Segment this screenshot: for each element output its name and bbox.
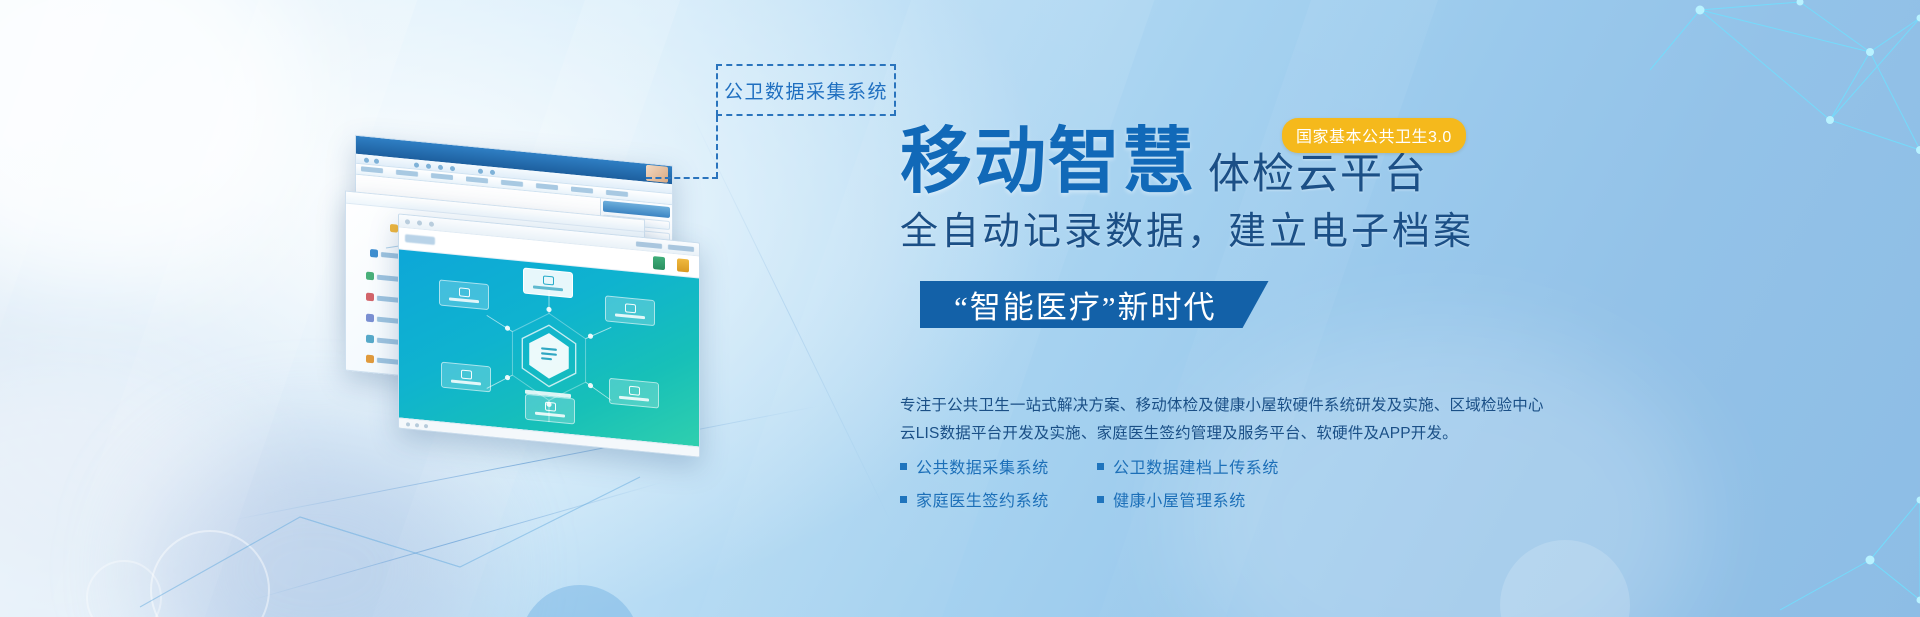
feature-label: 健康小屋管理系统: [1113, 487, 1246, 511]
promotional-banner: 公卫数据采集系统 移动智慧 体检云平台 国家基本公共卫生3.0 全自动记录数据，…: [0, 0, 1920, 617]
status-badge: 国家基本公共卫生3.0: [1282, 118, 1466, 153]
description-block: 专注于公共卫生一站式解决方案、移动体检及健康小屋软硬件系统研发及实施、区域检验中…: [900, 392, 1560, 448]
avatar: [646, 165, 668, 183]
feature-label: 公卫数据建档上传系统: [1113, 454, 1279, 478]
bullet-square-icon: [1097, 463, 1104, 470]
dashboard-card-top[interactable]: [523, 267, 573, 298]
dashboard-card-bottom-left[interactable]: [441, 362, 491, 393]
callout-leader-vertical: [716, 116, 718, 178]
slogan-text: “智能医疗”新时代: [954, 282, 1217, 327]
dashboard-canvas: [399, 250, 699, 447]
dashboard-card-top-right[interactable]: [605, 295, 655, 326]
toolbar-icon: [653, 256, 665, 270]
window-controls: [405, 219, 434, 227]
card-label: [449, 297, 479, 303]
headline-strong: 移动智慧: [900, 126, 1196, 198]
app-logo: [405, 234, 435, 245]
headline-secondary: 全自动记录数据，建立电子档案: [900, 200, 1474, 255]
screenshot-dashboard-window: [398, 213, 700, 457]
card-label: [451, 379, 481, 385]
callout-box: 公卫数据采集系统: [716, 64, 896, 116]
card-icon: [629, 385, 640, 395]
card-icon: [459, 287, 470, 297]
card-label: [533, 285, 563, 291]
card-icon: [545, 401, 556, 411]
product-screenshot-group: 公卫数据采集系统: [0, 0, 900, 617]
feature-item-public-data-collection[interactable]: 公共数据采集系统: [900, 454, 1075, 478]
feature-list: 公共数据采集系统 公卫数据建档上传系统 家庭医生签约系统 健康小屋管理系统: [900, 454, 1279, 511]
description-line-2: 云LIS数据平台开发及实施、家庭医生签约管理及服务平台、软硬件及APP开发。: [900, 420, 1560, 448]
feature-label: 家庭医生签约系统: [916, 487, 1049, 511]
dashboard-card-top-left[interactable]: [439, 279, 489, 310]
slogan-ribbon: “智能医疗”新时代: [920, 281, 1269, 328]
dashboard-card-bottom-right[interactable]: [609, 378, 659, 409]
card-icon: [543, 275, 554, 285]
card-label: [619, 395, 649, 401]
card-label: [535, 411, 565, 417]
feature-item-record-upload[interactable]: 公卫数据建档上传系统: [1075, 454, 1279, 478]
copy-block: 移动智慧 体检云平台 国家基本公共卫生3.0 全自动记录数据，建立电子档案 “智…: [900, 0, 1920, 617]
bullet-square-icon: [900, 496, 907, 503]
card-label: [615, 313, 645, 319]
chrome-right-items: [636, 241, 694, 252]
feature-label: 公共数据采集系统: [916, 454, 1049, 478]
description-line-1: 专注于公共卫生一站式解决方案、移动体检及健康小屋软硬件系统研发及实施、区域检验中…: [900, 392, 1560, 420]
callout-label: 公卫数据采集系统: [724, 77, 888, 104]
bullet-square-icon: [900, 463, 907, 470]
dashboard-card-bottom[interactable]: [525, 394, 575, 425]
headline-subtitle: 体检云平台: [1208, 153, 1428, 198]
callout-leader-horizontal: [646, 177, 718, 179]
toolbar-icon: [677, 258, 689, 272]
feature-item-family-doctor[interactable]: 家庭医生签约系统: [900, 487, 1075, 511]
feature-item-health-cabin[interactable]: 健康小屋管理系统: [1075, 487, 1279, 511]
bullet-square-icon: [1097, 496, 1104, 503]
card-icon: [461, 369, 472, 379]
card-icon: [625, 303, 636, 313]
